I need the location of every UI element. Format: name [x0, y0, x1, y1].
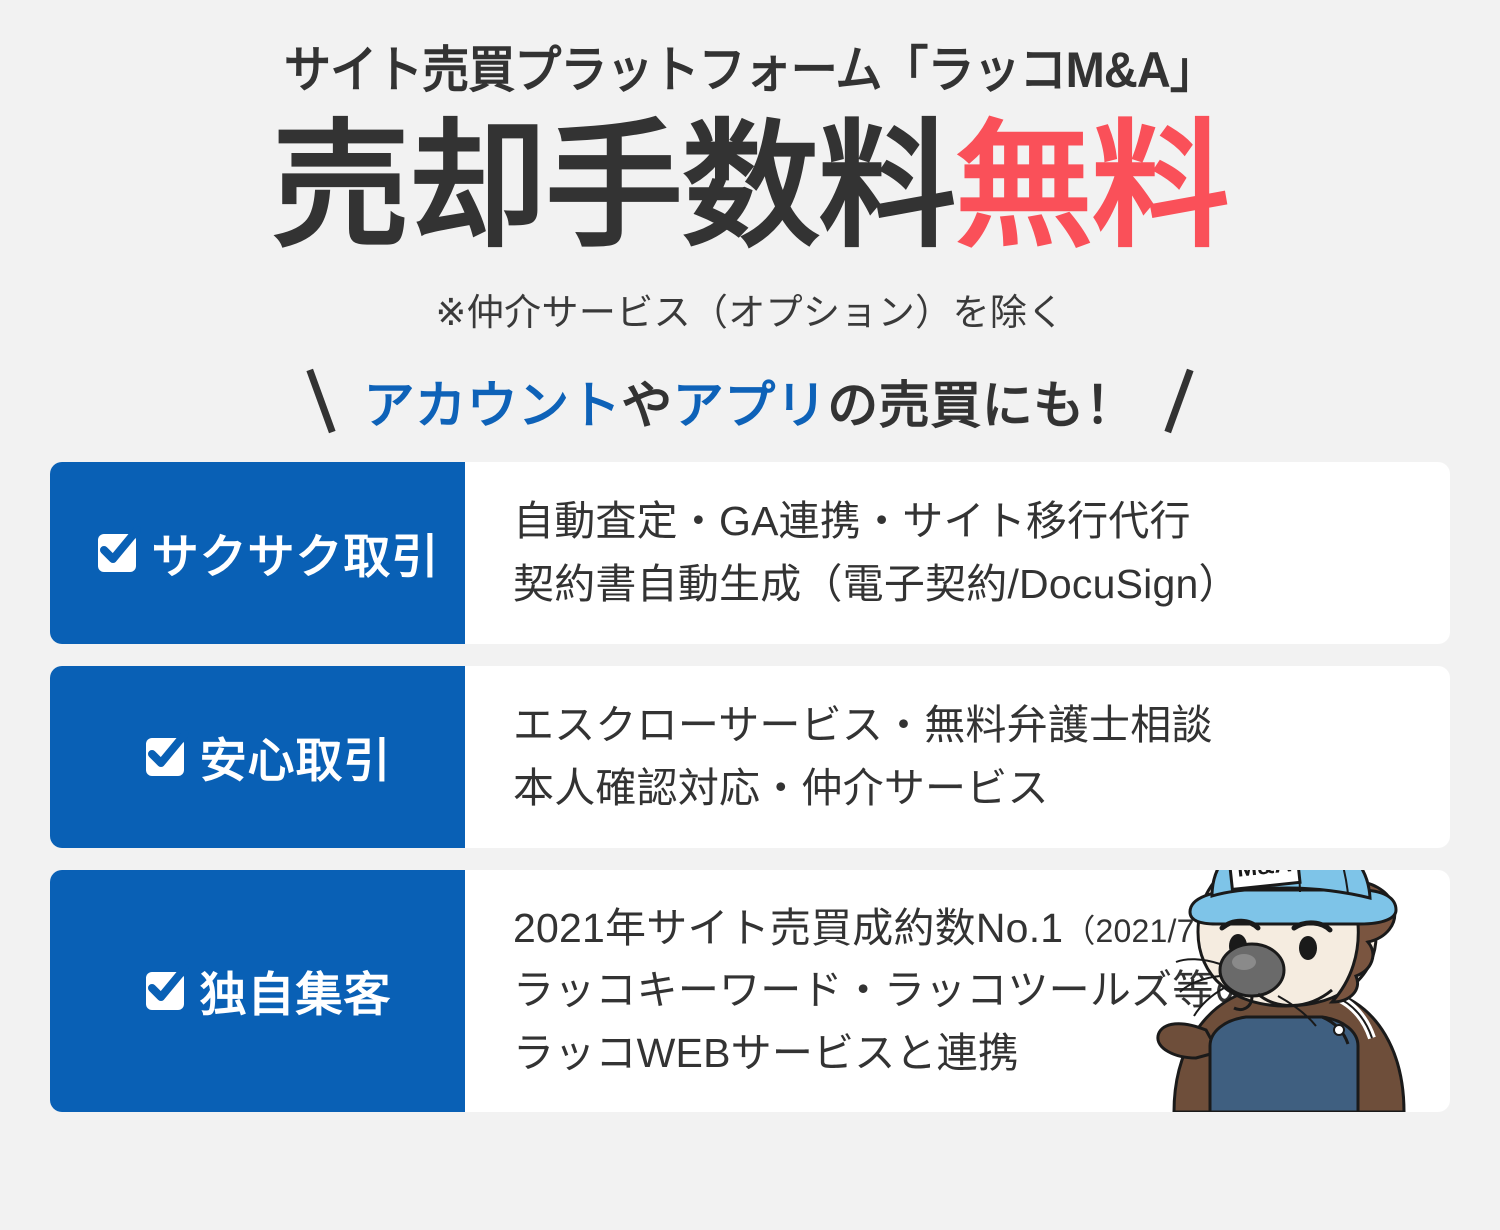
slash-left-icon	[304, 368, 338, 434]
feature-desc-line-main: 2021年サイト売買成約数No.1	[513, 905, 1063, 951]
feature-label-text: 独自集客	[200, 956, 392, 1025]
checkbox-checked-icon	[146, 972, 184, 1010]
accent-suffix: の売買にも！	[827, 377, 1136, 434]
page-title: 売却手数料無料	[0, 118, 1500, 256]
feature-label-badge: 安心取引	[50, 666, 465, 848]
eyebrow-title: サイト売買プラットフォーム「ラッコM&A」	[45, 42, 1455, 100]
feature-row: 安心取引 エスクローサービス・無料弁護士相談 本人確認対応・仲介サービス	[50, 666, 1450, 848]
headline-main: 売却手数料	[272, 110, 955, 264]
feature-desc-line: 自動査定・GA連携・サイト移行代行	[513, 495, 1426, 547]
accent-conjunction: や	[621, 377, 673, 434]
hero-section: サイト売買プラットフォーム「ラッコM&A」 売却手数料無料 ※仲介サービス（オプ…	[0, 0, 1500, 440]
disclaimer-note: ※仲介サービス（オプション）を除く	[0, 282, 1500, 336]
accent-tagline-text: アカウントやアプリの売買にも！	[364, 364, 1137, 438]
feature-label-text: サクサク取引	[152, 518, 440, 587]
feature-desc-line: 2021年サイト売買成約数No.1（2021/7 時点）	[513, 902, 1426, 954]
feature-label-text: 安心取引	[200, 722, 392, 791]
checkbox-checked-icon	[146, 738, 184, 776]
slash-right-icon	[1162, 368, 1196, 434]
feature-description: エスクローサービス・無料弁護士相談 本人確認対応・仲介サービス	[465, 666, 1450, 848]
checkbox-checked-icon	[98, 534, 136, 572]
headline-free-highlight: 無料	[955, 110, 1228, 264]
accent-word-account: アカウント	[364, 377, 622, 434]
feature-desc-line: エスクローサービス・無料弁護士相談	[513, 699, 1426, 751]
accent-word-app: アプリ	[673, 377, 828, 434]
feature-desc-line: ラッコWEBサービスと連携	[513, 1027, 1426, 1079]
feature-description: 2021年サイト売買成約数No.1（2021/7 時点） ラッコキーワード・ラッ…	[465, 870, 1450, 1112]
feature-desc-line-suffix: （2021/7 時点）	[1063, 913, 1300, 949]
feature-description: 自動査定・GA連携・サイト移行代行 契約書自動生成（電子契約/DocuSign）	[465, 462, 1450, 644]
feature-desc-line: 契約書自動生成（電子契約/DocuSign）	[513, 558, 1426, 610]
feature-row: 独自集客 2021年サイト売買成約数No.1（2021/7 時点） ラッコキーワ…	[50, 870, 1450, 1112]
feature-label-badge: サクサク取引	[50, 462, 465, 644]
feature-row: サクサク取引 自動査定・GA連携・サイト移行代行 契約書自動生成（電子契約/Do…	[50, 462, 1450, 644]
feature-desc-line: ラッコキーワード・ラッコツールズ等の	[513, 964, 1426, 1016]
feature-list: サクサク取引 自動査定・GA連携・サイト移行代行 契約書自動生成（電子契約/Do…	[0, 462, 1500, 1112]
feature-label-badge: 独自集客	[50, 870, 465, 1112]
accent-tagline: アカウントやアプリの売買にも！	[0, 362, 1500, 440]
feature-desc-line: 本人確認対応・仲介サービス	[513, 762, 1426, 814]
